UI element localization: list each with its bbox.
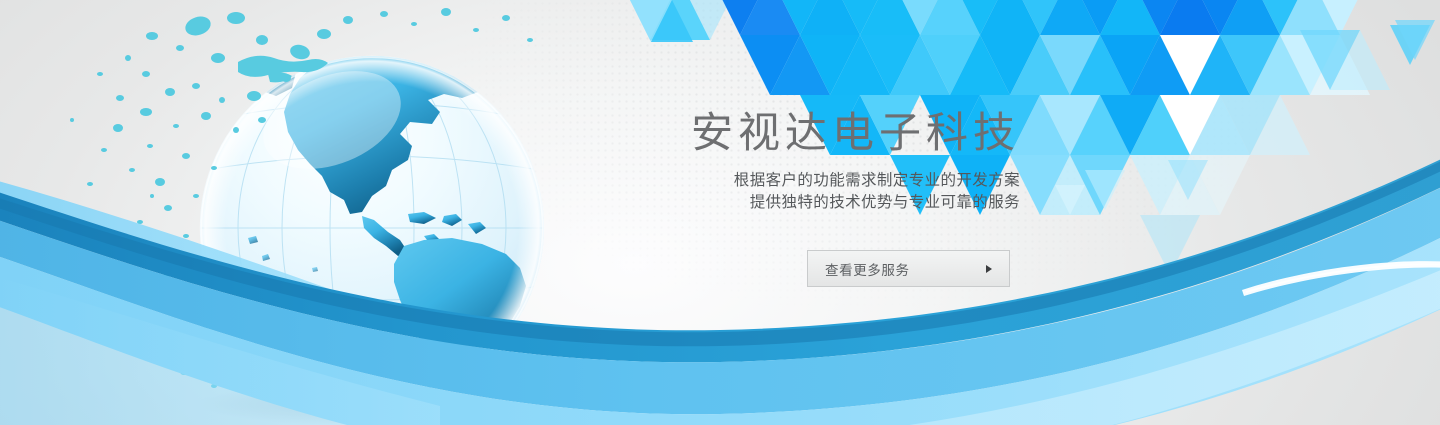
hero-text-block: 安视达电子科技 根据客户的功能需求制定专业的开发方案 提供独特的技术优势与专业可… bbox=[620, 112, 1020, 214]
view-more-services-button[interactable]: 查看更多服务 bbox=[807, 250, 1010, 287]
subtitle-line-1: 根据客户的功能需求制定专业的开发方案 bbox=[620, 170, 1020, 192]
page-title: 安视达电子科技 bbox=[620, 112, 1020, 154]
subtitle-line-2: 提供独特的技术优势与专业可靠的服务 bbox=[620, 192, 1020, 214]
view-more-services-label: 查看更多服务 bbox=[825, 259, 910, 279]
triangle-right-icon bbox=[986, 265, 992, 273]
hero-banner: 安视达电子科技 根据客户的功能需求制定专业的开发方案 提供独特的技术优势与专业可… bbox=[0, 0, 1440, 425]
